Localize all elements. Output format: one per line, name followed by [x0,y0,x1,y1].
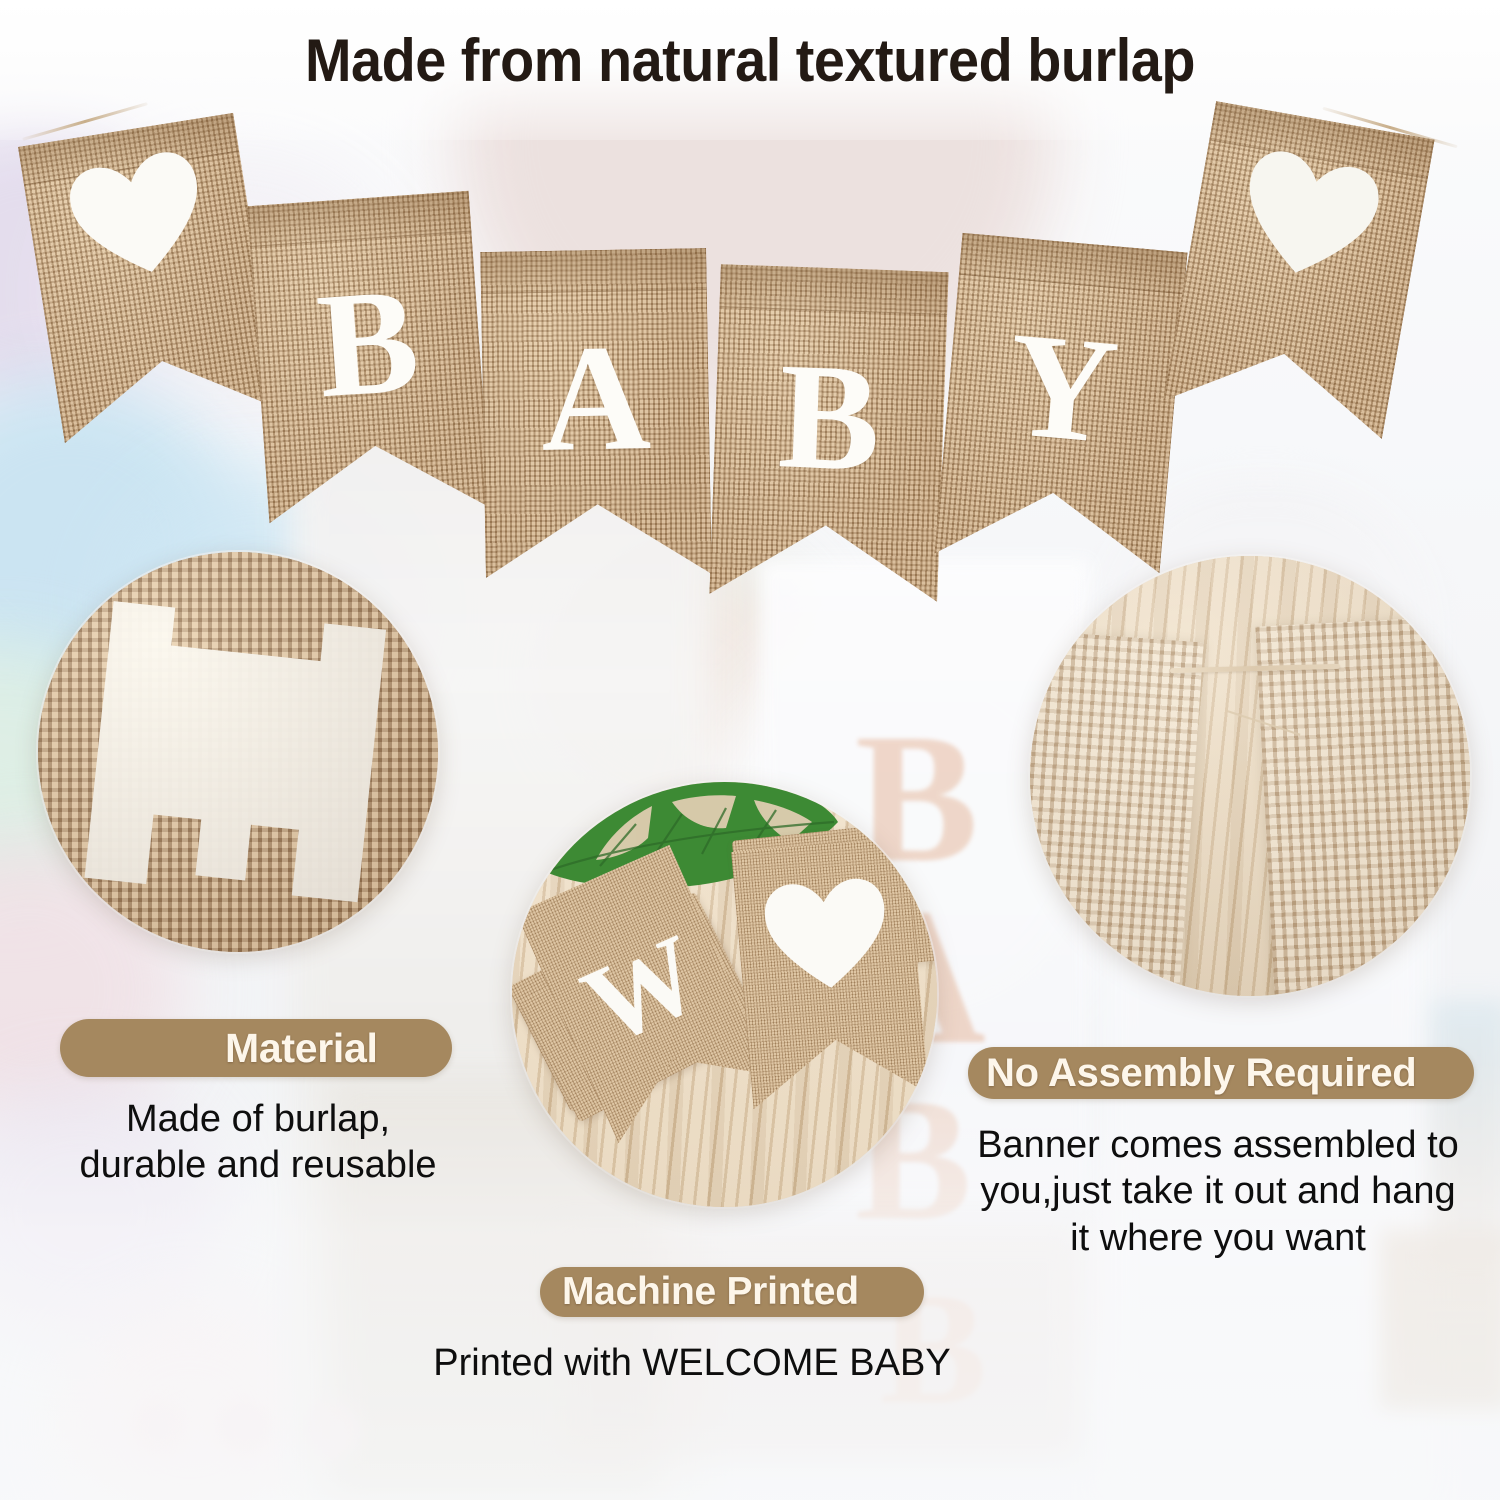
printed-letter-e [69,572,407,932]
infographic-canvas: B A B B Made from natural textured burla… [0,0,1500,1500]
assembled-flag-left [1030,626,1204,996]
flag-letter: A [481,320,710,476]
flag-hem [959,233,1188,294]
feature-photo-no-assembly [1030,556,1470,996]
flag-hem [719,264,948,315]
banner-flag-b1: B [247,191,491,524]
feature-photo-material [38,552,438,952]
caption-no-assembly: Banner comes assembled to you,just take … [948,1122,1488,1261]
badge-label: Material [225,1025,378,1072]
badge-machine-printed: Machine Printed [540,1267,924,1317]
caption-machine-printed: Printed with WELCOME BABY [392,1340,992,1386]
badge-label: Machine Printed [562,1270,859,1314]
banner-flag-heart-right [1163,101,1434,439]
badge-no-assembly: No Assembly Required [968,1047,1474,1099]
flag-hem [480,248,707,294]
assembled-flag-right [1255,614,1470,996]
caption-material: Made of burlap, durable and reusable [28,1096,488,1189]
flag-letter: B [713,337,946,497]
page-title: Made from natural textured burlap [53,26,1448,95]
flag-letter: B [252,260,484,425]
banner-flag-b2: B [709,264,948,602]
feature-photo-machine-printed: W [512,782,937,1207]
banner-flag-heart-left [18,113,280,443]
flag-hem [247,191,471,248]
banner-flag-y: Y [934,233,1187,573]
flag-letter: Y [943,303,1181,472]
badge-label: No Assembly Required [986,1051,1416,1096]
heart-icon [758,872,896,1002]
badge-material: Material [60,1019,452,1077]
hanging-banner: B A B Y [0,90,1500,570]
banner-flag-a: A [480,248,712,578]
